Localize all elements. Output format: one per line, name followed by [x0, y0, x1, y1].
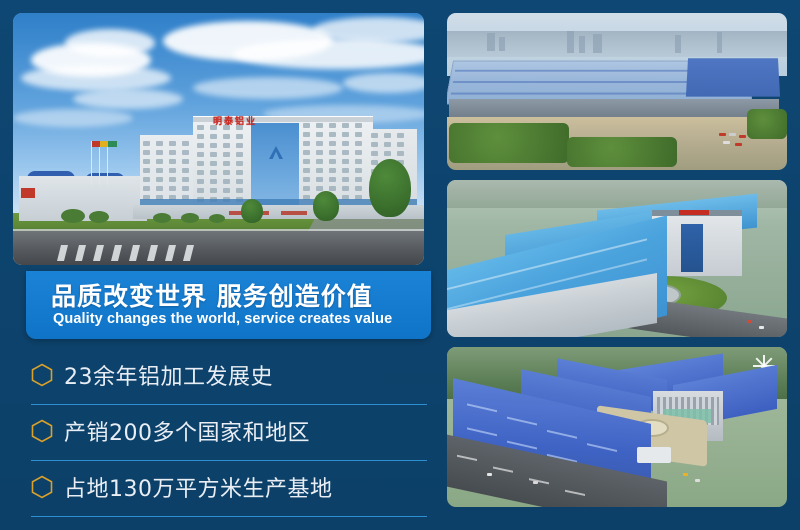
window-pane [197, 125, 204, 130]
window-pane [156, 186, 163, 191]
window-pane [303, 159, 310, 164]
window-pane [355, 159, 362, 164]
slogan-english: Quality changes the world, service creat… [53, 311, 392, 327]
window-pane [169, 150, 176, 155]
feature-label: 占地130万平方米生产基地 [64, 471, 333, 503]
shrub-shape [209, 214, 225, 223]
list-item[interactable]: 23余年铝加工发展史 [26, 349, 437, 405]
window-pane [342, 123, 349, 128]
window-pane [397, 151, 404, 156]
window-pane [316, 123, 323, 128]
window-pane [397, 133, 404, 138]
window-pane [342, 177, 349, 182]
window-pane [342, 186, 349, 191]
window-pane [210, 125, 217, 130]
greenery-patch [747, 109, 787, 139]
window-pane [384, 133, 391, 138]
window-pane [342, 141, 349, 146]
tree-shape [241, 199, 263, 223]
window-pane [197, 179, 204, 184]
window-pane [182, 186, 189, 191]
window-pane [223, 134, 230, 139]
rooftop-red-sign [679, 210, 709, 215]
aerial-factory-complex-photo[interactable] [447, 13, 787, 170]
aerial-plant-office-photo[interactable] [447, 180, 787, 337]
feature-label: 23余年铝加工发展史 [64, 359, 273, 391]
window-pane [355, 177, 362, 182]
window-pane [156, 168, 163, 173]
company-profile-banner: 明泰铝业 品质改变世界 [0, 0, 800, 530]
list-divider [31, 516, 427, 517]
window-pane [182, 177, 189, 182]
window-pane [355, 132, 362, 137]
window-pane [316, 177, 323, 182]
window-pane [236, 143, 243, 148]
window-pane [329, 141, 336, 146]
industrial-park-rendering[interactable] [447, 347, 787, 507]
window-pane [355, 123, 362, 128]
window-pane [329, 159, 336, 164]
window-pane [182, 141, 189, 146]
window-pane [156, 177, 163, 182]
window-pane [329, 132, 336, 137]
window-pane [197, 134, 204, 139]
window-pane [156, 141, 163, 146]
window-pane [169, 186, 176, 191]
window-pane [223, 143, 230, 148]
window-pane [197, 170, 204, 175]
list-item[interactable]: 占地130万平方米生产基地 [26, 461, 437, 517]
window-pane [303, 141, 310, 146]
shrub-shape [89, 211, 109, 223]
shrub-shape [181, 213, 199, 223]
window-pane [371, 151, 378, 156]
window-pane [236, 179, 243, 184]
feature-list: 23余年铝加工发展史 产销200多个国家和地区 占地130万 [26, 349, 437, 517]
window-pane [316, 132, 323, 137]
slogan-chinese: 品质改变世界 服务创造价值 [51, 277, 373, 313]
window-pane [303, 132, 310, 137]
window-pane [329, 150, 336, 155]
company-headquarters-photo[interactable]: 明泰铝业 [13, 13, 424, 265]
window-pane [143, 186, 150, 191]
window-pane [210, 143, 217, 148]
window-pane [182, 159, 189, 164]
window-pane [169, 177, 176, 182]
red-ground-marker [281, 211, 307, 215]
shrub-shape [61, 209, 85, 223]
window-pane [210, 170, 217, 175]
left-column: 明泰铝业 品质改变世界 [13, 13, 424, 517]
factory-roof-secondary [686, 58, 780, 96]
office-entrance-glass [681, 224, 703, 272]
window-pane [197, 143, 204, 148]
window-pane [384, 142, 391, 147]
window-pane [156, 150, 163, 155]
window-pane [197, 161, 204, 166]
window-pane [342, 159, 349, 164]
window-pane [236, 170, 243, 175]
window-pane [342, 168, 349, 173]
hexagon-bullet-icon [31, 475, 53, 499]
window-pane [316, 168, 323, 173]
window-pane [384, 151, 391, 156]
window-pane [143, 141, 150, 146]
window-pane [303, 123, 310, 128]
window-pane [236, 161, 243, 166]
window-pane [210, 134, 217, 139]
window-pane [316, 186, 323, 191]
window-pane [182, 168, 189, 173]
window-pane [169, 159, 176, 164]
window-pane [329, 177, 336, 182]
factory-facade-wall [449, 99, 779, 119]
window-pane [342, 132, 349, 137]
window-pane [329, 186, 336, 191]
window-pane [316, 159, 323, 164]
window-pane [223, 161, 230, 166]
window-pane [236, 152, 243, 157]
hexagon-bullet-icon [31, 419, 53, 443]
feature-label: 产销200多个国家和地区 [64, 415, 310, 447]
list-item[interactable]: 产销200多个国家和地区 [26, 405, 437, 461]
entrance-gatehouse [637, 447, 671, 463]
window-pane [303, 168, 310, 173]
tree-shape [313, 191, 339, 221]
window-pane [223, 170, 230, 175]
window-pane [371, 142, 378, 147]
right-column [447, 13, 787, 517]
window-pane [303, 150, 310, 155]
distant-city-skyline [447, 31, 787, 57]
window-pane [156, 159, 163, 164]
window-pane [316, 141, 323, 146]
window-pane [371, 133, 378, 138]
tree-shape [369, 159, 411, 217]
window-pane [143, 168, 150, 173]
window-pane [236, 188, 243, 193]
window-pane [223, 179, 230, 184]
window-pane [223, 152, 230, 157]
window-pane [143, 177, 150, 182]
window-pane [236, 134, 243, 139]
window-pane [355, 141, 362, 146]
window-pane [397, 142, 404, 147]
window-pane [329, 168, 336, 173]
greenery-patch [567, 137, 677, 167]
window-pane [143, 150, 150, 155]
shrub-shape [153, 213, 171, 223]
window-pane [210, 188, 217, 193]
greenery-patch [449, 123, 569, 163]
window-pane [210, 161, 217, 166]
window-pane [210, 152, 217, 157]
window-pane [169, 141, 176, 146]
window-pane [303, 177, 310, 182]
building-windows [13, 13, 424, 265]
window-pane [316, 150, 323, 155]
window-pane [342, 150, 349, 155]
slogan-banner: 品质改变世界 服务创造价值 Quality changes the world,… [26, 271, 431, 339]
window-pane [355, 168, 362, 173]
window-pane [197, 188, 204, 193]
window-pane [329, 123, 336, 128]
window-pane [169, 168, 176, 173]
window-pane [223, 125, 230, 130]
window-pane [210, 179, 217, 184]
hexagon-bullet-icon [31, 363, 53, 387]
window-pane [143, 159, 150, 164]
window-pane [223, 188, 230, 193]
window-pane [236, 125, 243, 130]
window-pane [355, 150, 362, 155]
window-pane [197, 152, 204, 157]
window-pane [355, 186, 362, 191]
window-pane [182, 150, 189, 155]
window-pane [303, 186, 310, 191]
